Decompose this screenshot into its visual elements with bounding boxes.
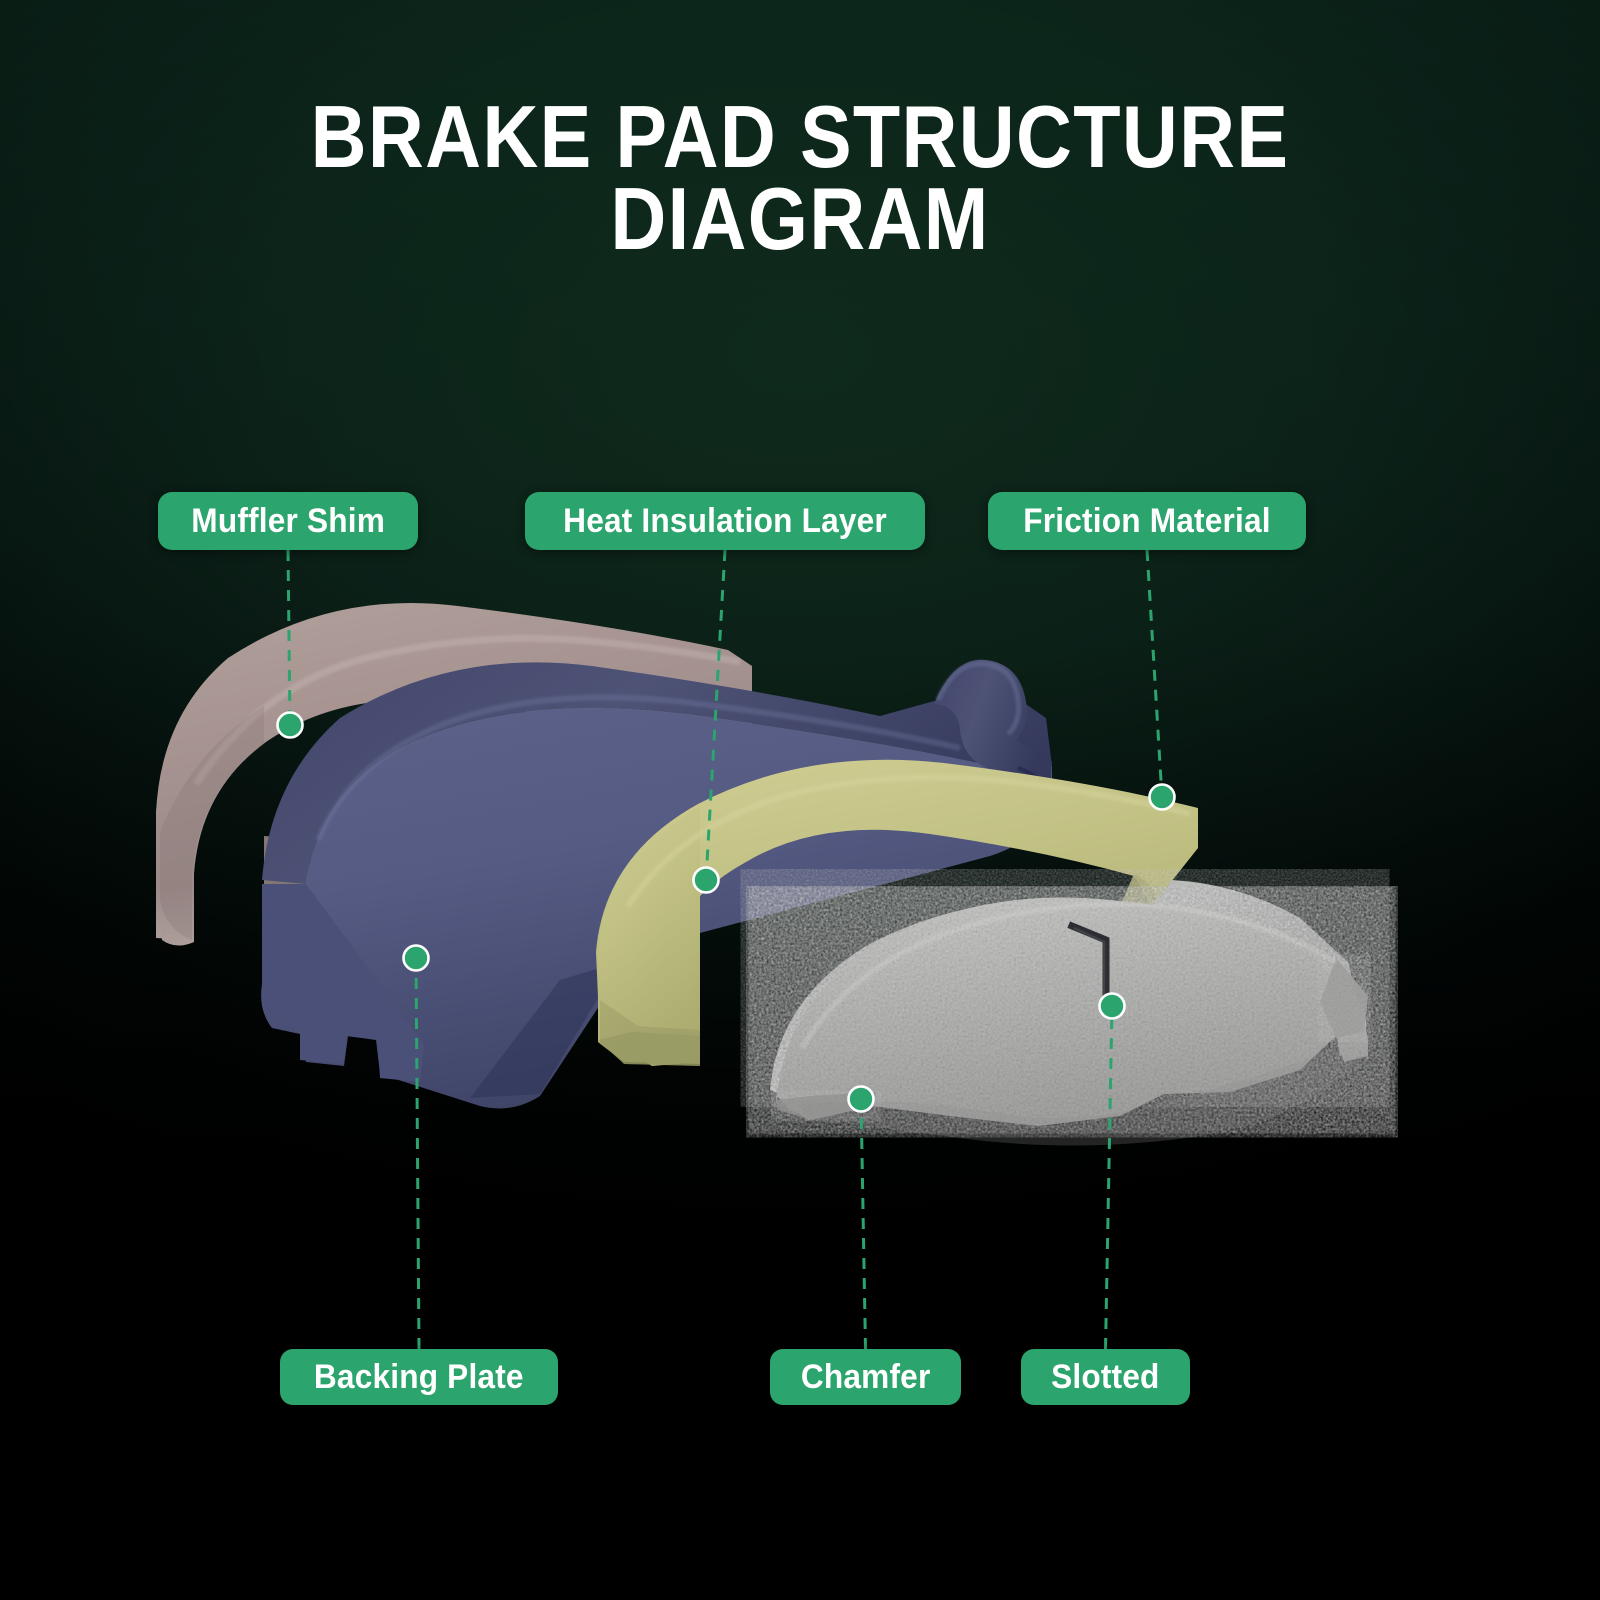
- callout-label: Chamfer: [801, 1360, 931, 1394]
- callout-label: Backing Plate: [314, 1360, 524, 1394]
- callout-chamfer[interactable]: Chamfer: [770, 1349, 961, 1405]
- callout-label: Slotted: [1051, 1360, 1159, 1394]
- diagram-canvas: BRAKE PAD STRUCTURE DIAGRAM: [0, 0, 1600, 1600]
- callout-label: Heat Insulation Layer: [563, 504, 887, 538]
- page-title: BRAKE PAD STRUCTURE DIAGRAM: [0, 96, 1600, 260]
- callout-backing-plate[interactable]: Backing Plate: [280, 1349, 558, 1405]
- callout-slotted[interactable]: Slotted: [1021, 1349, 1190, 1405]
- callout-muffler-shim[interactable]: Muffler Shim: [158, 492, 418, 550]
- callout-heat-insulation[interactable]: Heat Insulation Layer: [525, 492, 925, 550]
- callout-friction-material[interactable]: Friction Material: [988, 492, 1306, 550]
- callout-label: Muffler Shim: [191, 504, 385, 538]
- callout-label: Friction Material: [1023, 504, 1270, 538]
- page-title-line-2: DIAGRAM: [96, 178, 1504, 260]
- page-title-line-1: BRAKE PAD STRUCTURE: [96, 96, 1504, 178]
